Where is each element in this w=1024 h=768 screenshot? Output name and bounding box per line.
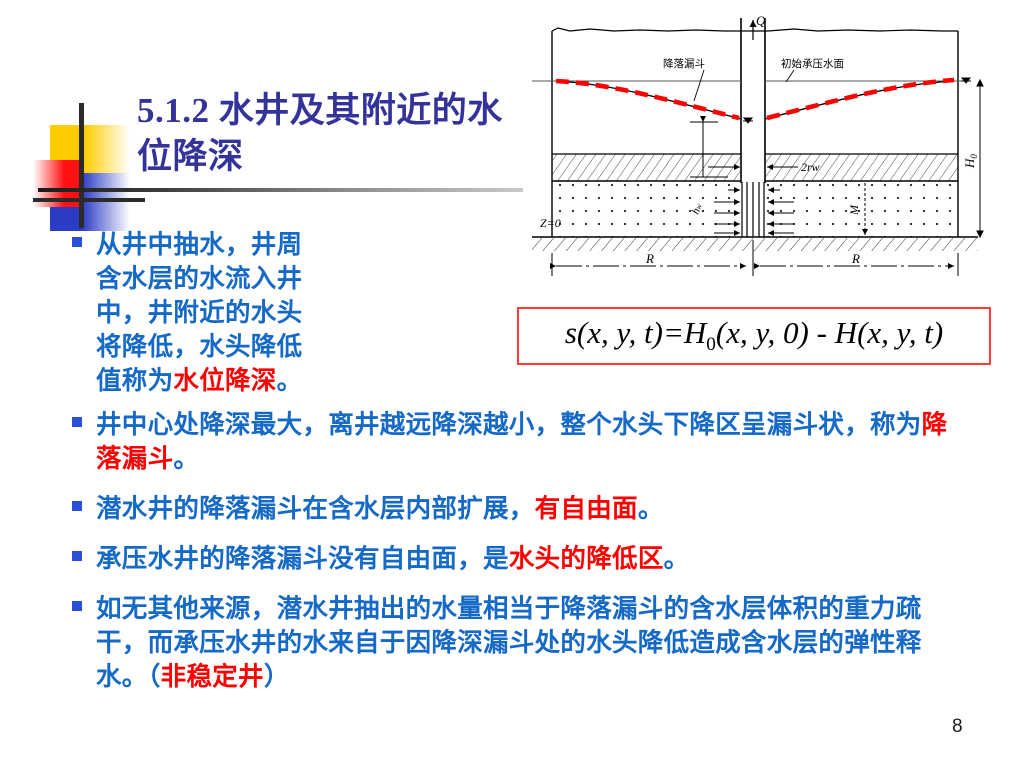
highlighted-term: 水头的降低区 [509, 545, 664, 573]
highlighted-term: 有自由面 [535, 495, 638, 523]
bullet-item-2: 井中心处降深最大，离井越远降深越小，整个水头下降区呈漏斗状，称为降落漏斗。 [72, 408, 962, 476]
label-M: M [847, 204, 861, 216]
body-text-run: 。 [173, 445, 199, 473]
title-underline-rule [38, 188, 523, 192]
formula-equals: = [663, 315, 684, 350]
label-2rw: 2rw [801, 160, 820, 174]
bullet-text-3: 潜水井的降落漏斗在含水层内部扩展，有自由面。 [96, 492, 664, 526]
title-decoration [33, 103, 153, 228]
label-H0: H0 [962, 154, 979, 169]
body-text-run: 承压水井的降落漏斗没有自由面，是 [96, 545, 509, 573]
page-title: 5.1.2 水井及其附近的水位降深 [137, 88, 537, 180]
bullet-item-3: 潜水井的降落漏斗在含水层内部扩展，有自由面。 [72, 492, 962, 526]
bullet-text-4: 承压水井的降落漏斗没有自由面，是水头的降低区。 [96, 542, 689, 576]
page-number: 8 [952, 716, 963, 738]
formula-lhs: s(x, y, t) [565, 315, 663, 350]
drawdown-curve-left-red [556, 81, 739, 118]
bullet-marker-icon [72, 237, 82, 247]
bullet-text-5: 如无其他来源，潜水井抽出的水量相当于降落漏斗的含水层体积的重力疏干，而承压水井的… [96, 592, 962, 694]
leader-initial-piezometric-surface [786, 70, 794, 82]
deco-cross-vertical [79, 103, 84, 228]
water-level-symbol-well [743, 118, 753, 123]
highlighted-term: 非稳定井 [161, 663, 264, 691]
aquifer-layer-left [552, 182, 741, 237]
water-level-symbol-right [961, 78, 971, 83]
bedrock-layer [532, 238, 978, 251]
label-initial-piezometric-surface: 初始承压水面 [781, 57, 844, 70]
label-datum-Z0: Z=0 [540, 216, 561, 230]
body-text-run: 。 [277, 367, 303, 395]
well-screen [742, 182, 764, 237]
bullet-marker-icon [72, 551, 82, 561]
label-discharge-Q: Q [756, 13, 766, 28]
well-cross-section-diagram: Q 降落漏斗 初始承压水面 hw 2rw M H0 Z=0 [518, 0, 1000, 290]
ground-surface-line [552, 28, 958, 31]
body-text-run: 。 [664, 545, 690, 573]
label-R-right: R [851, 251, 860, 266]
deco-cross-horizontal [33, 198, 145, 202]
body-text-run: 。 [638, 495, 664, 523]
body-text-run: 潜水井的降落漏斗在含水层内部扩展， [96, 495, 535, 523]
formula-box: s(x, y, t)=H0(x, y, 0) - H(x, y, t) [517, 307, 991, 365]
aquifer-layer-right [765, 182, 958, 237]
leader-cone-of-depression [694, 70, 704, 101]
bullet-text-2: 井中心处降深最大，离井越远降深越小，整个水头下降区呈漏斗状，称为降落漏斗。 [96, 408, 962, 476]
label-R-left: R [645, 251, 654, 266]
body-text-run: ） [264, 663, 290, 691]
formula-term1: H [684, 315, 706, 350]
formula-term1-subscript: 0 [706, 335, 716, 356]
bullet-marker-icon [72, 501, 82, 511]
drawdown-curve-right-red [767, 80, 954, 118]
drawdown-equation: s(x, y, t)=H0(x, y, 0) - H(x, y, t) [565, 315, 943, 356]
highlighted-term: 水位降深 [173, 367, 276, 395]
formula-term1-args: (x, y, 0) [716, 315, 809, 350]
formula-term2: H(x, y, t) [835, 315, 943, 350]
bullet-text-1: 从井中抽水，井周含水层的水流入井中，井附近的水头将降低，水头降低值称为水位降深。 [96, 228, 322, 398]
bullet-marker-icon [72, 417, 82, 427]
bullet-marker-icon [72, 601, 82, 611]
bullet-item-5: 如无其他来源，潜水井抽出的水量相当于降落漏斗的含水层体积的重力疏干，而承压水井的… [72, 592, 962, 694]
body-text-run: 井中心处降深最大，离井越远降深越小，整个水头下降区呈漏斗状，称为 [96, 411, 922, 439]
label-cone-of-depression: 降落漏斗 [663, 57, 705, 70]
bullet-item-1: 从井中抽水，井周含水层的水流入井中，井附近的水头将降低，水头降低值称为水位降深。 [72, 228, 322, 398]
formula-minus: - [817, 315, 827, 350]
bullet-item-4: 承压水井的降落漏斗没有自由面，是水头的降低区。 [72, 542, 962, 576]
